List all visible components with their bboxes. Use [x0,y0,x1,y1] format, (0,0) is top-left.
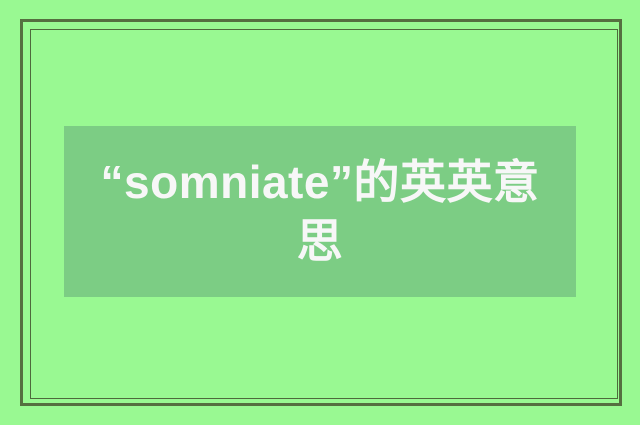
page-title: “somniate”的英英意思 [90,153,550,271]
poster-canvas: “somniate”的英英意思 [0,0,640,425]
title-banner: “somniate”的英英意思 [64,126,576,297]
